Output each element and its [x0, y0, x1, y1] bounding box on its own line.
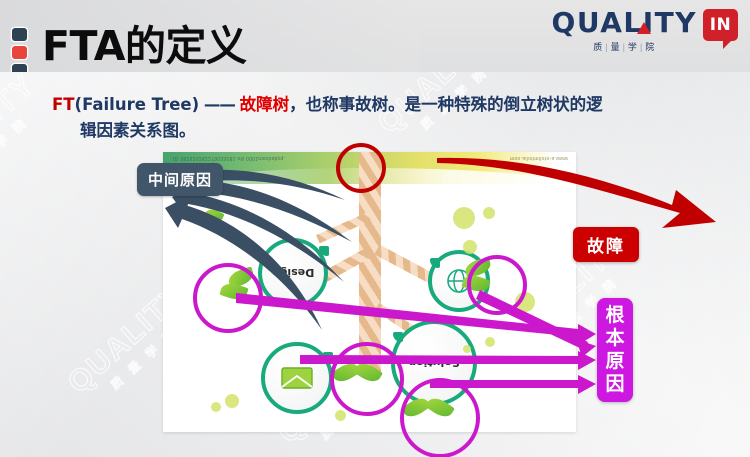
logo-speech-bubble-icon: IN [703, 9, 738, 41]
watermark-sub: 质 量 学 院 [0, 93, 54, 203]
page-title: FTA的定义 [42, 20, 247, 72]
slide-canvas: QUALITY质 量 学 院 QUALITY质 量 学 院 QUALITY质 量… [0, 0, 750, 457]
envelope-icon [265, 346, 329, 410]
illustration-watermark-right: moo.ailotimiloto-a.www [510, 155, 568, 161]
envelope-icon-svg [281, 366, 313, 390]
title-bullet-marks [12, 28, 27, 72]
logo-sub-char-3: 学 [626, 42, 640, 52]
brand-logo[interactable]: QUALITY 质|量|学|院 IN [552, 9, 738, 51]
bullet-square-red [12, 46, 27, 59]
highlight-circle-1 [193, 263, 263, 333]
definition-paragraph: FT(Failure Tree) —— 故障树，也称事故树。是一种特殊的倒立树状… [52, 92, 712, 144]
label-fault: 故障 [573, 227, 639, 262]
logo-subtitle: 质|量|学|院 [552, 40, 697, 53]
bullet-square-navy-top [12, 28, 27, 41]
dot-1 [453, 207, 475, 229]
node-design-label: Design [262, 242, 324, 304]
illustration-watermark-left: ID 382920262279033081 oN 0001nwobabyq. [173, 155, 285, 161]
node-mail [261, 342, 333, 414]
slide-header: FTA的定义 QUALITY 质|量|学|院 IN [0, 0, 750, 72]
text-ft-full: (Failure Tree) [75, 95, 200, 114]
dot-2 [483, 207, 495, 219]
dot-4 [463, 240, 477, 254]
logo-sub-char-2: 量 [609, 42, 623, 52]
text-line2: 辑因素关系图。 [52, 118, 712, 144]
dot-6 [463, 345, 471, 353]
label-root-cause: 根本原因 [597, 298, 633, 402]
text-line1-rest: ，也称事故树。是一种特殊的倒立树状的逻 [289, 95, 603, 114]
dot-7 [225, 394, 239, 408]
logo-sub-char-4: 院 [643, 42, 657, 52]
label-middle-cause: 中间原因 [137, 163, 223, 196]
highlight-circle-4 [400, 378, 480, 457]
bullet-square-navy-bottom [12, 64, 27, 72]
highlight-circle-trunk-red [336, 143, 386, 193]
logo-word-quality: QUALITY [552, 9, 697, 37]
logo-sub-char-1: 质 [591, 42, 605, 52]
dot-8 [211, 402, 221, 412]
dot-5 [485, 337, 495, 347]
text-dash: —— [199, 95, 240, 114]
watermark-text: QUALITY [0, 68, 42, 190]
leaf-e1 [204, 207, 225, 225]
dot-9 [335, 410, 346, 421]
node-design: Design [258, 238, 328, 308]
highlight-circle-3 [330, 342, 404, 416]
logo-triangle-icon [637, 22, 651, 34]
logo-wordmark: QUALITY 质|量|学|院 [552, 9, 697, 53]
text-fault-tree-highlight: 故障树 [240, 95, 290, 114]
highlight-circle-2 [467, 255, 527, 315]
text-ft-abbrev: FT [52, 95, 75, 114]
